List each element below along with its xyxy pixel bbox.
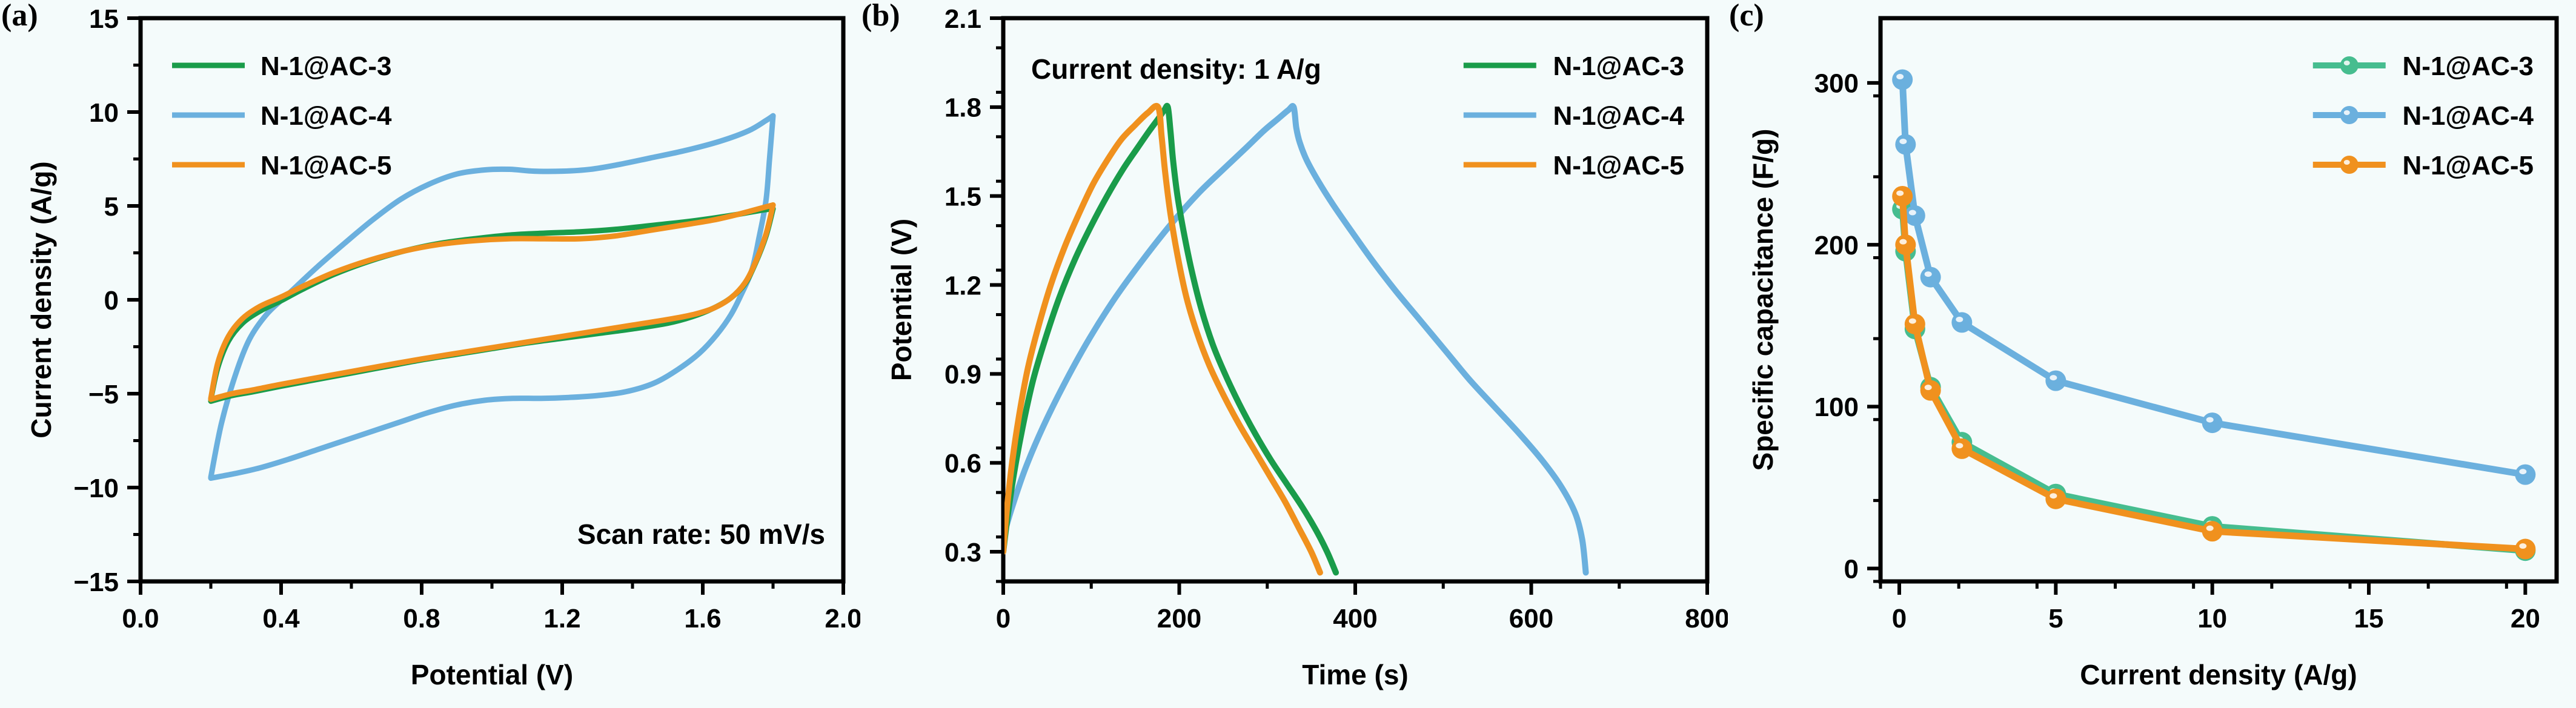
series-path [1003, 106, 1320, 572]
legend-label: N-1@AC-5 [1553, 151, 1684, 180]
x-tick-label: 15 [2354, 604, 2384, 634]
legend-marker-highlight [2344, 160, 2350, 165]
x-tick-label: 0.8 [403, 604, 440, 634]
y-tick-label: −15 [73, 567, 119, 597]
y-axis: 0100200300 [1814, 69, 1881, 584]
legend-label: N-1@AC-5 [261, 151, 391, 180]
marker-highlight [2519, 543, 2526, 549]
chart-b: 02004006008000.30.60.91.21.51.82.1Time (… [860, 0, 1728, 708]
marker-highlight [2050, 375, 2057, 380]
legend-label: N-1@AC-4 [2403, 101, 2534, 131]
data-point [1892, 186, 1913, 207]
data-point [2045, 489, 2066, 509]
panel-label-a: (a) [1, 0, 38, 33]
legend-label: N-1@AC-3 [2403, 51, 2534, 81]
legend: N-1@AC-3N-1@AC-4N-1@AC-5 [172, 51, 392, 180]
x-axis: 0.00.40.81.21.62.0 [122, 581, 860, 634]
annotation-text: Current density: 1 A/g [1031, 53, 1321, 85]
legend: N-1@AC-3N-1@AC-4N-1@AC-5 [1464, 51, 1685, 180]
y-axis-title: Current density (A/g) [25, 161, 57, 438]
data-point [1892, 70, 1913, 90]
y-axis-title: Specific capacitance (F/g) [1747, 129, 1779, 471]
x-tick-label: 0 [1892, 604, 1907, 634]
x-tick-label: 0.4 [262, 604, 300, 634]
marker-highlight [1925, 271, 1932, 277]
legend-label: N-1@AC-4 [1553, 101, 1685, 131]
x-axis-title: Time (s) [1302, 659, 1409, 690]
x-tick-label: 5 [2048, 604, 2063, 634]
y-axis: 0.30.60.91.21.51.82.1 [944, 4, 1003, 581]
series-group [1003, 106, 1586, 573]
marker-highlight [2206, 526, 2214, 531]
series-group [1892, 70, 2535, 561]
data-point [2045, 371, 2066, 391]
series-N-1@AC-4 [1892, 70, 2535, 485]
y-tick-label: 300 [1814, 69, 1859, 99]
y-tick-label: 0.3 [944, 538, 981, 567]
legend-label: N-1@AC-3 [261, 51, 391, 81]
data-point [2515, 465, 2535, 485]
data-point [1951, 312, 1972, 332]
marker-highlight [2519, 469, 2526, 474]
series-N-1@AC-5 [1892, 186, 2535, 560]
panel-c: (c)051015200100200300Current density (A/… [1728, 0, 2576, 708]
y-tick-label: 200 [1814, 231, 1859, 260]
annotation-text: Scan rate: 50 mV/s [577, 518, 825, 550]
series-N-1@AC-5 [1003, 106, 1320, 572]
chart-c: 051015200100200300Current density (A/g)S… [1728, 0, 2576, 708]
legend-marker [2340, 106, 2359, 124]
legend-marker-highlight [2344, 110, 2350, 115]
chart-a: 0.00.40.81.21.62.0−15−10−5051015Potentia… [0, 0, 860, 708]
x-axis: 0200400600800 [996, 581, 1728, 634]
y-axis: −15−10−5051015 [73, 4, 141, 597]
series-path [1902, 209, 2525, 551]
y-tick-label: 1.2 [944, 271, 981, 300]
y-axis-title: Potential (V) [886, 219, 917, 381]
x-tick-label: 200 [1157, 604, 1201, 634]
x-tick-label: 800 [1685, 604, 1728, 634]
data-point [1895, 134, 1916, 154]
x-tick-label: 2.0 [825, 604, 860, 634]
x-axis: 05101520 [1881, 581, 2540, 634]
y-tick-label: 2.1 [944, 4, 981, 34]
data-point [1905, 205, 1925, 226]
y-tick-label: 1.5 [944, 182, 981, 212]
legend-label: N-1@AC-3 [1553, 51, 1684, 81]
marker-highlight [1925, 385, 1932, 390]
figure-root: (a)0.00.40.81.21.62.0−15−10−5051015Poten… [0, 0, 2576, 708]
series-N-1@AC-3 [1892, 199, 2535, 561]
legend-marker-highlight [2344, 61, 2350, 65]
y-tick-label: 10 [89, 98, 119, 128]
data-point [1920, 267, 1941, 288]
x-tick-label: 1.2 [543, 604, 580, 634]
marker-highlight [2050, 493, 2057, 498]
series-path [1003, 106, 1586, 572]
x-tick-label: 1.6 [684, 604, 721, 634]
panel-label-c: (c) [1729, 0, 1764, 33]
data-point [1895, 234, 1916, 255]
y-tick-label: 100 [1814, 392, 1859, 422]
marker-highlight [1909, 210, 1916, 216]
marker-highlight [1909, 319, 1916, 324]
y-tick-label: −10 [73, 474, 119, 503]
legend: N-1@AC-3N-1@AC-4N-1@AC-5 [2313, 51, 2534, 180]
x-tick-label: 20 [2511, 604, 2540, 634]
legend-label: N-1@AC-5 [2403, 151, 2534, 180]
y-tick-label: −5 [88, 380, 119, 409]
panel-a: (a)0.00.40.81.21.62.0−15−10−5051015Poten… [0, 0, 860, 708]
marker-highlight [1956, 317, 1963, 322]
y-tick-label: 5 [104, 192, 119, 222]
x-axis-title: Potential (V) [411, 659, 573, 690]
x-tick-label: 400 [1333, 604, 1377, 634]
data-point [1951, 438, 1972, 459]
cv-upper-branch [211, 205, 773, 398]
x-axis-title: Current density (A/g) [2080, 659, 2357, 690]
marker-highlight [1956, 443, 1963, 448]
y-tick-label: 1.8 [944, 93, 981, 123]
y-tick-label: 0 [1844, 554, 1859, 584]
data-point [1905, 314, 1925, 334]
y-tick-label: 0.9 [944, 360, 981, 389]
marker-highlight [1899, 239, 1907, 245]
x-tick-label: 10 [2197, 604, 2227, 634]
data-point [2515, 539, 2535, 560]
data-point [2202, 412, 2223, 433]
x-tick-label: 0.0 [122, 604, 159, 634]
series-path [1902, 196, 2525, 549]
legend-marker [2340, 56, 2359, 74]
x-tick-label: 600 [1509, 604, 1553, 634]
series-N-1@AC-4 [1003, 106, 1586, 572]
legend-marker [2340, 156, 2359, 174]
y-tick-label: 0 [104, 286, 119, 316]
marker-highlight [2206, 417, 2214, 423]
data-point [2202, 521, 2223, 541]
panel-b: (b)02004006008000.30.60.91.21.51.82.1Tim… [860, 0, 1728, 708]
y-tick-label: 15 [89, 4, 119, 34]
marker-highlight [1896, 190, 1904, 196]
x-tick-label: 0 [996, 604, 1011, 634]
panel-label-b: (b) [861, 0, 900, 33]
data-point [1920, 380, 1941, 401]
marker-highlight [1899, 139, 1907, 144]
marker-highlight [1896, 74, 1904, 79]
legend-label: N-1@AC-4 [261, 101, 392, 131]
y-tick-label: 0.6 [944, 449, 981, 478]
